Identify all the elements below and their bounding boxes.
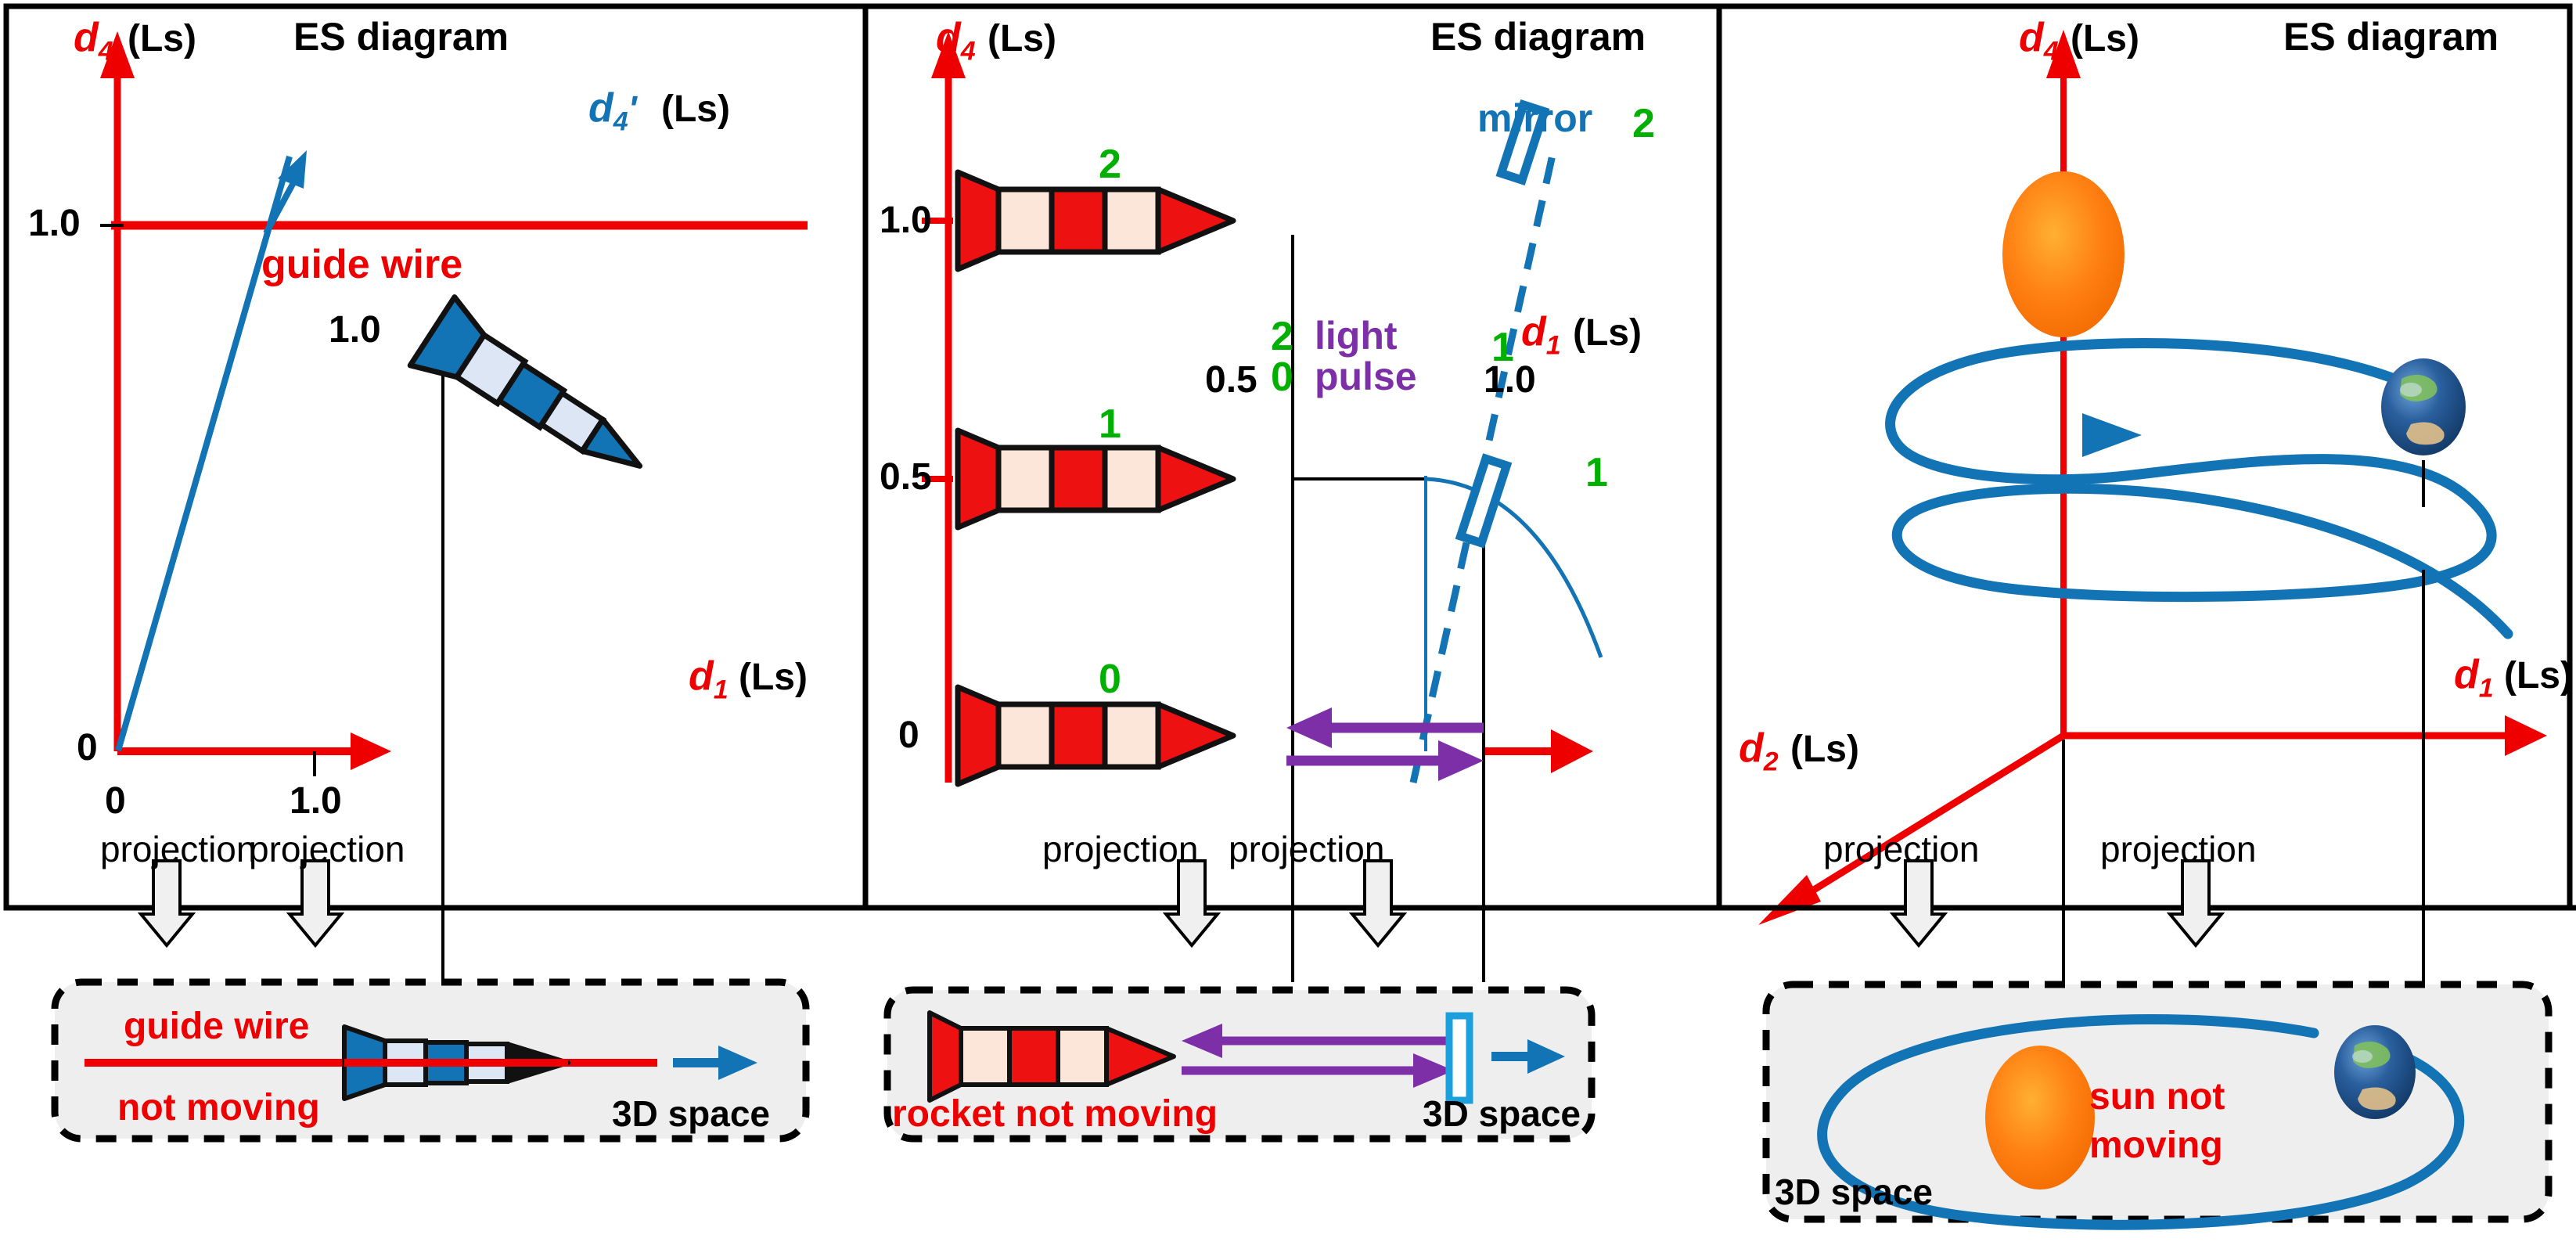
panel1-y-tick-0: 0 (77, 729, 98, 767)
panel2-pulse-label: pulse (1315, 357, 1417, 396)
panel2-y-axis-label-d: d4 (936, 17, 976, 64)
panel1-projection-label-left: projection (100, 831, 256, 867)
panel1-projection-label-right: projection (249, 831, 405, 867)
panel2-mirror-count-2: 2 (1632, 103, 1655, 144)
panel1-prime-axis-label-d: d4' (588, 88, 637, 135)
figure-canvas: d4 (Ls) ES diagram d4' (Ls) 1.0 0 guide … (0, 0, 2576, 1249)
panel1-x-axis-unit: (Ls) (739, 659, 808, 696)
panel1-title: ES diagram (293, 17, 509, 56)
panel3-y-axis-label-d: d4 (2019, 17, 2059, 64)
sun-icon (2002, 171, 2124, 337)
panel1-y-axis-unit: (Ls) (128, 20, 196, 58)
panel2-title: ES diagram (1430, 17, 1646, 56)
panel3-box-line2: moving (2089, 1127, 2223, 1164)
panel2-y-tick-1: 1.0 (880, 202, 932, 239)
panel2-projection-label-right: projection (1229, 831, 1384, 867)
rocket-2-panel2 (958, 172, 1233, 269)
panel2-y-tick-0: 0 (898, 717, 919, 754)
panel2-y-tick-05: 0.5 (880, 459, 932, 496)
panel3-box-line1: sun not (2089, 1078, 2225, 1116)
panel2-y-axis-unit: (Ls) (988, 20, 1056, 58)
panel1-guide-wire-label: guide wire (261, 244, 462, 285)
panel1-box-line2: not moving (117, 1089, 320, 1127)
panel3-box-space-label: 3D space (1775, 1174, 1933, 1210)
panel2-bottom-box-graphics (865, 970, 1722, 1190)
panel1-x-tick-1: 1.0 (290, 783, 342, 820)
mirror-panel2-box (1449, 1016, 1470, 1100)
panel2-rocket-count-0: 0 (1099, 659, 1121, 700)
earth-icon-box (2334, 1025, 2416, 1119)
panel2-mirror-label: mirror (1477, 99, 1592, 138)
earth-icon (2381, 358, 2466, 455)
panel2-projection-label-left: projection (1042, 831, 1198, 867)
panel1-box-space-label: 3D space (612, 1096, 770, 1132)
panel1-y-tick-1: 1.0 (28, 205, 81, 243)
rocket-1-panel2 (958, 430, 1233, 527)
panel1-x-tick-0: 0 (105, 783, 126, 820)
panel1-prime-axis-unit: (Ls) (661, 91, 730, 128)
panel2-light-count: 2 (1271, 316, 1293, 357)
rocket-tilted-panel1 (410, 297, 662, 500)
panel2-x-axis-unit: (Ls) (1573, 315, 1642, 352)
panel2-box-space-label: 3D space (1423, 1096, 1581, 1132)
panel3-z-axis-label-d: d2 (1739, 728, 1779, 775)
pulse-arrow-right-panel2 (1286, 740, 1484, 781)
panel3-projection-label-left: projection (1823, 831, 1979, 867)
panel2-x-tick-1: 1.0 (1484, 362, 1536, 399)
panel2-box-line1: rocket not moving (892, 1096, 1218, 1133)
panel3-z-axis-unit: (Ls) (1790, 731, 1859, 768)
panel2-x-axis-label-d: d1 (1521, 311, 1561, 358)
rocket-0-panel2 (958, 687, 1233, 784)
panel3-title: ES diagram (2283, 17, 2499, 56)
panel3-y-axis-unit: (Ls) (2071, 20, 2139, 58)
sun-icon-box (1985, 1046, 2095, 1190)
panel1-bottom-box-graphics (0, 970, 869, 1190)
panel2-rocket-count-2: 2 (1099, 144, 1121, 185)
light-arrow-left-panel2 (1286, 707, 1484, 748)
panel3-projection-label-right: projection (2100, 831, 2256, 867)
panel1-y-axis-label-d: d4 (74, 17, 113, 64)
panel1-box-line1: guide wire (124, 1008, 309, 1046)
panel3-x-axis-label-d: d1 (2454, 654, 2494, 701)
panel2-x-tick-05: 0.5 (1205, 362, 1257, 399)
panel2-mirror-count-1: 1 (1585, 452, 1608, 493)
panel1-rocket-tick-label: 1.0 (329, 311, 381, 349)
mirror-1-panel2 (1461, 459, 1507, 543)
panel3-x-axis-unit: (Ls) (2504, 657, 2573, 695)
panel2-rocket-count-1: 1 (1099, 404, 1121, 445)
panel1-x-axis-label-d: d1 (689, 656, 729, 703)
panel2-light-label: light (1315, 316, 1398, 355)
panel2-pulse-count: 0 (1271, 357, 1293, 398)
helix-direction-arrow (2082, 413, 2142, 457)
